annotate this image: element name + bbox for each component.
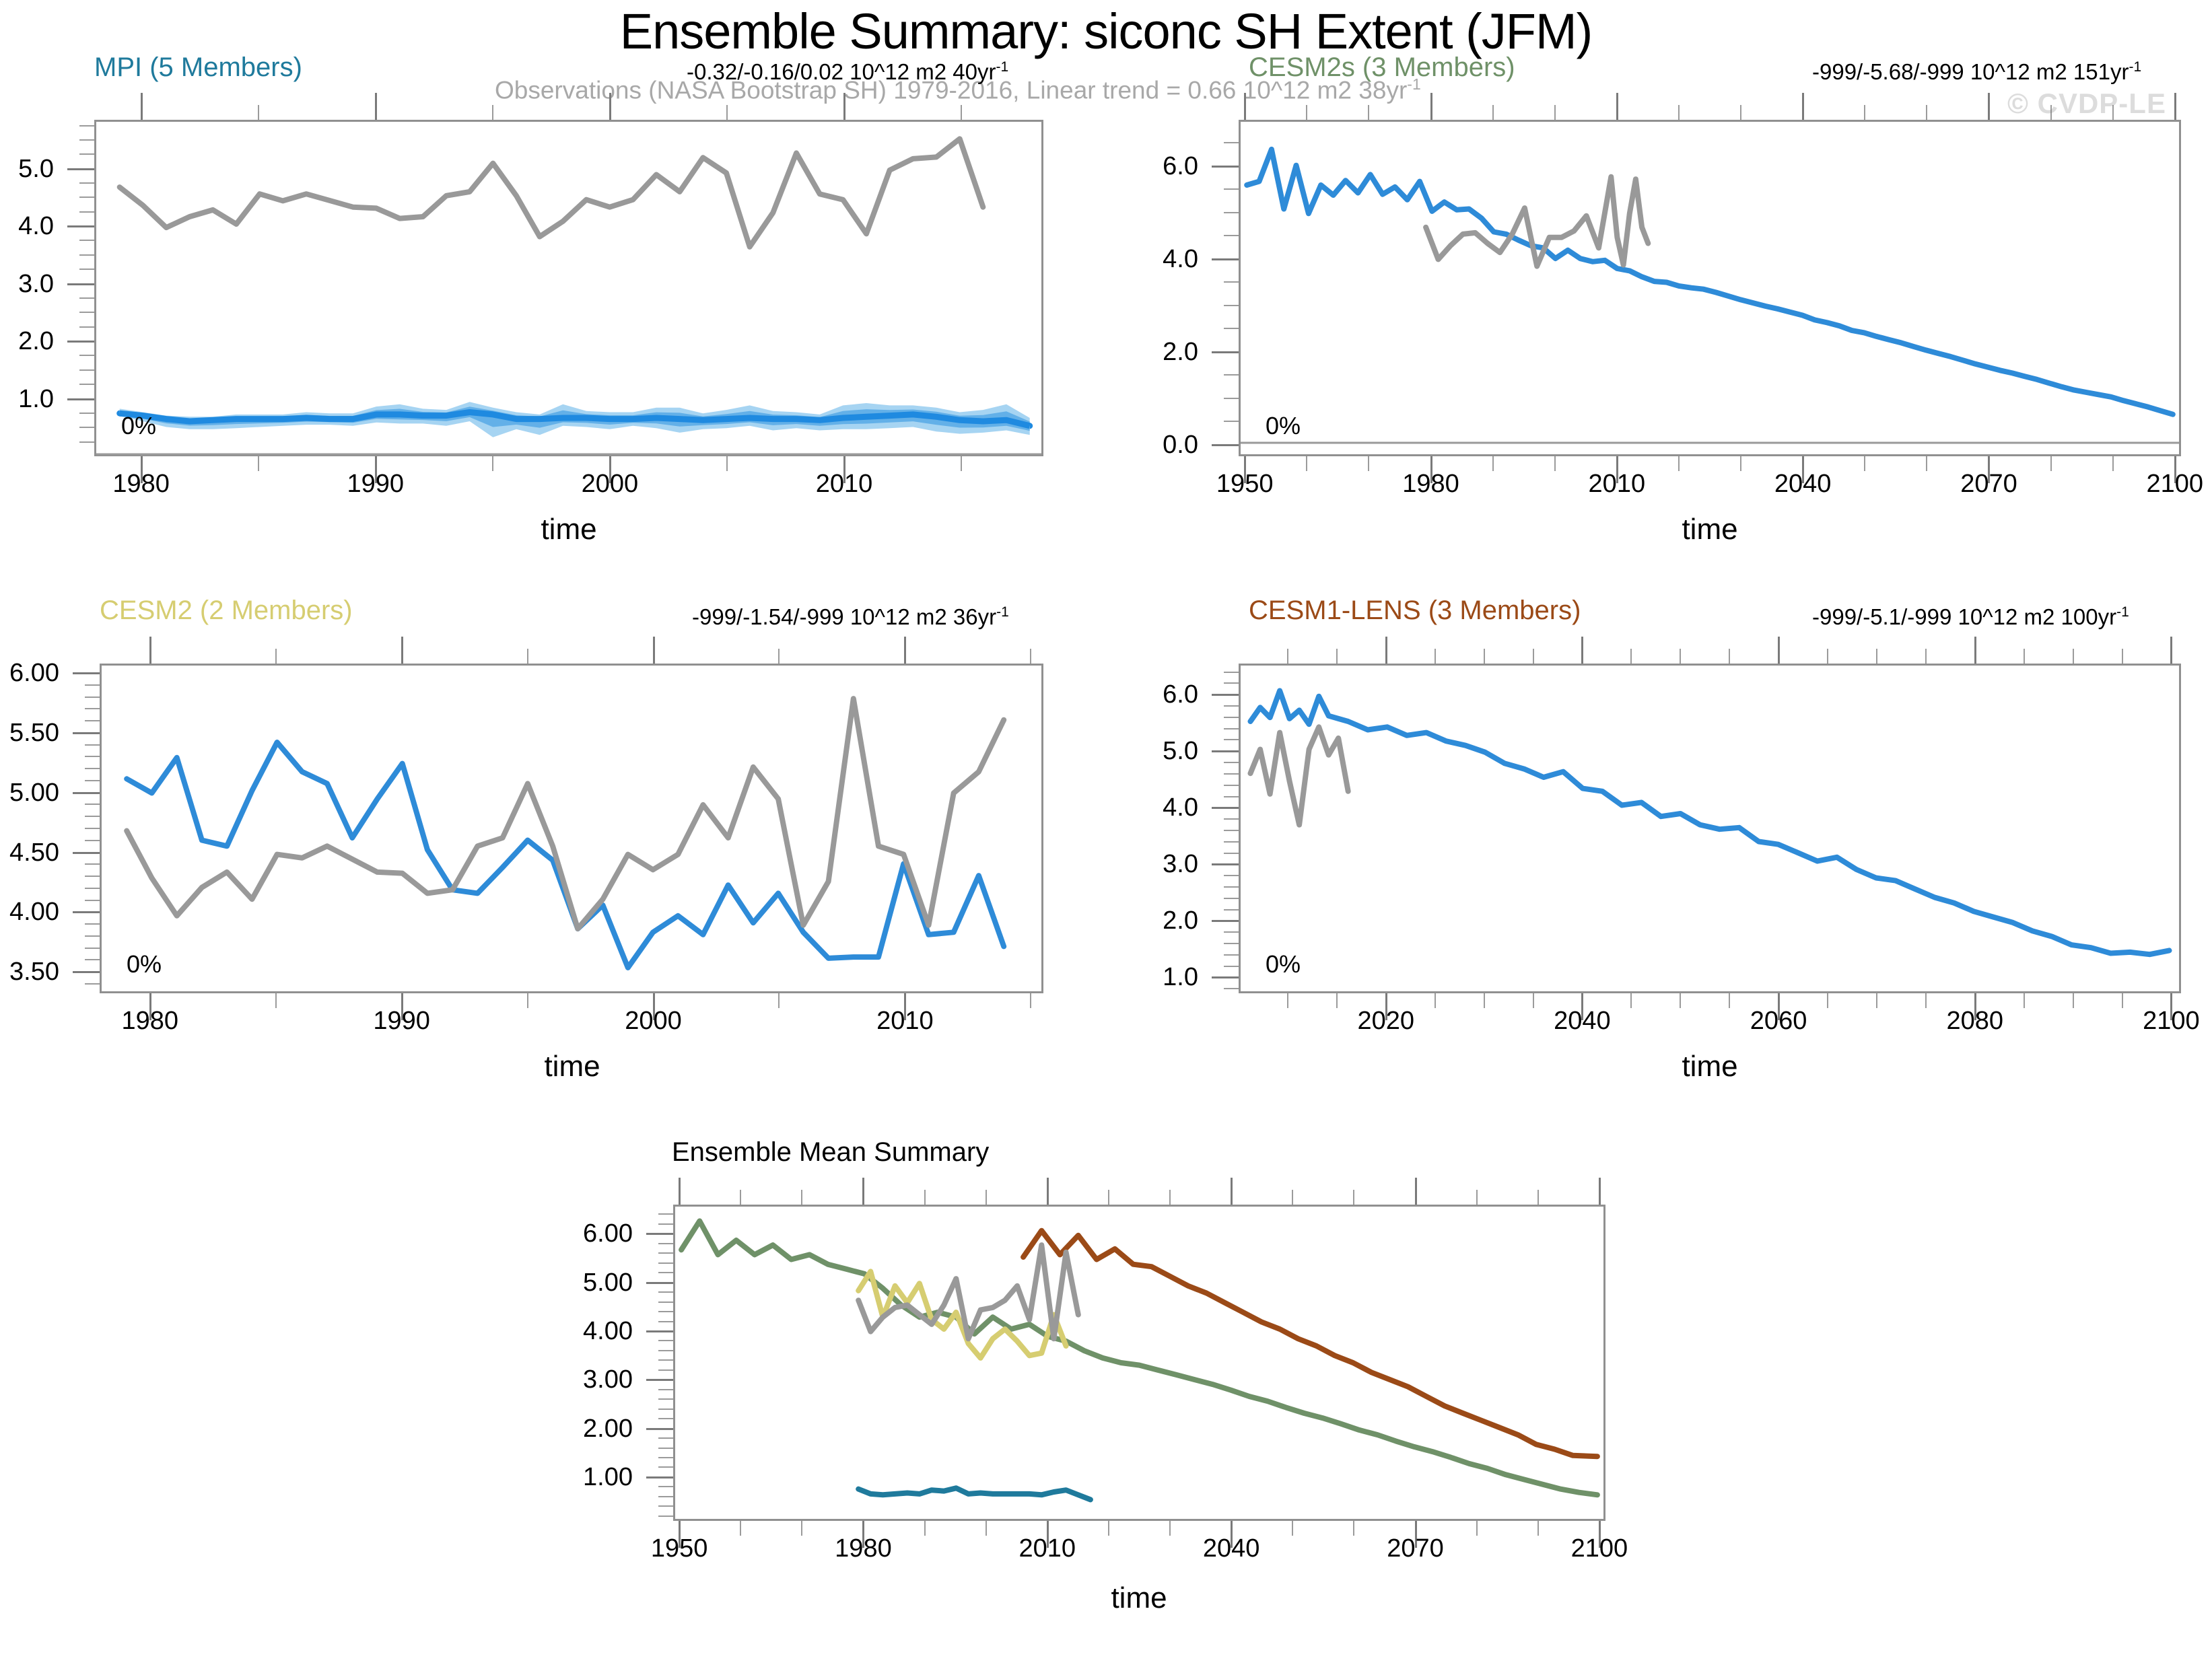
- y-tick-minor: [79, 254, 94, 256]
- x-tick-minor-top: [1630, 649, 1632, 664]
- x-tick-minor-top: [1680, 649, 1681, 664]
- panel-mpi-xaxis-name: time: [414, 513, 724, 546]
- x-tick-major-top: [1974, 637, 1976, 664]
- y-tick-minor: [85, 756, 100, 757]
- y-tick-minor: [1224, 830, 1239, 831]
- x-tick-major-top: [1231, 1178, 1233, 1205]
- x-tick-minor-top: [1030, 649, 1031, 664]
- y-tick-major: [646, 1282, 673, 1284]
- y-tick-major: [73, 971, 100, 973]
- y-tick-minor: [85, 863, 100, 865]
- x-tick-major-top: [1581, 637, 1583, 664]
- y-tick-minor: [1224, 728, 1239, 729]
- panel-cesm2s-stats-exponent: -1: [2129, 59, 2141, 75]
- x-tick-major-top: [862, 1178, 864, 1205]
- y-axis-label: 2.0: [0, 328, 54, 354]
- y-tick-minor: [1224, 717, 1239, 718]
- y-tick-minor: [85, 828, 100, 829]
- x-tick-minor-top: [2050, 105, 2052, 120]
- x-axis-label: 2010: [831, 1008, 979, 1034]
- y-tick-minor: [85, 780, 100, 781]
- y-tick-minor: [658, 1340, 673, 1341]
- y-tick-minor: [1224, 988, 1239, 989]
- x-tick-minor-top: [801, 1190, 802, 1205]
- y-tick-minor: [1224, 898, 1239, 899]
- y-tick-minor: [658, 1369, 673, 1371]
- x-axis-label: 2070: [1342, 1536, 1490, 1561]
- y-tick-minor: [1224, 235, 1239, 236]
- x-axis-label: 2060: [1704, 1008, 1853, 1034]
- x-tick-minor: [1630, 993, 1632, 1008]
- panel-cesm2-xaxis-name: time: [417, 1050, 727, 1083]
- x-tick-minor-top: [527, 649, 528, 664]
- y-tick-minor: [79, 384, 94, 385]
- y-tick-minor: [1224, 966, 1239, 967]
- panel-mpi-stats-exponent: -1: [996, 59, 1008, 75]
- y-tick-minor: [658, 1398, 673, 1400]
- y-tick-major: [73, 732, 100, 734]
- y-tick-minor: [658, 1223, 673, 1225]
- y-tick-minor: [85, 768, 100, 769]
- x-axis-label: 2040: [1508, 1008, 1656, 1034]
- y-tick-minor: [658, 1505, 673, 1507]
- x-tick-minor-top: [961, 105, 962, 120]
- y-tick-minor: [85, 876, 100, 877]
- x-tick-minor: [740, 1521, 741, 1536]
- y-axis-label: 4.0: [1064, 795, 1198, 820]
- x-tick-minor-top: [492, 105, 493, 120]
- y-tick-minor: [85, 708, 100, 709]
- x-axis-label: 2040: [1729, 471, 1877, 497]
- panel-cesm2-series-canvas: [102, 666, 1041, 991]
- y-tick-minor: [1224, 773, 1239, 775]
- y-tick-minor: [1224, 328, 1239, 329]
- x-tick-major-top: [401, 637, 403, 664]
- x-tick-minor: [275, 993, 277, 1008]
- x-tick-minor: [2112, 456, 2114, 471]
- y-tick-minor: [658, 1311, 673, 1312]
- x-tick-major-top: [141, 93, 143, 120]
- panel-ensemble-mean-xaxis-name: time: [984, 1581, 1294, 1615]
- panel-cesm2-plot-area: [100, 664, 1043, 993]
- series-line: [120, 139, 983, 246]
- x-tick-minor-top: [778, 649, 780, 664]
- y-tick-minor: [1224, 954, 1239, 956]
- x-tick-minor-top: [1554, 105, 1556, 120]
- panel-mpi-plot-area: [94, 120, 1043, 456]
- x-tick-minor: [1336, 993, 1338, 1008]
- x-tick-minor: [1864, 456, 1865, 471]
- x-tick-minor-top: [1537, 1190, 1539, 1205]
- y-tick-minor: [1224, 305, 1239, 306]
- x-tick-minor-top: [1484, 649, 1485, 664]
- y-tick-minor: [658, 1418, 673, 1419]
- y-tick-major: [1212, 863, 1239, 865]
- x-tick-minor-top: [2073, 649, 2074, 664]
- x-tick-major-top: [2174, 93, 2176, 120]
- x-tick-minor-top: [2024, 649, 2025, 664]
- y-tick-minor: [658, 1359, 673, 1361]
- y-tick-minor: [85, 816, 100, 817]
- x-tick-minor-top: [258, 105, 259, 120]
- y-tick-minor: [79, 427, 94, 428]
- x-tick-minor-top: [1336, 649, 1338, 664]
- x-tick-minor: [1678, 456, 1680, 471]
- y-axis-label: 2.0: [1064, 339, 1198, 365]
- y-tick-minor: [658, 1466, 673, 1468]
- y-tick-major: [67, 398, 94, 400]
- panel-mpi-title: MPI (5 Members): [94, 52, 302, 83]
- y-tick-minor: [85, 900, 100, 901]
- y-axis-label: 2.00: [498, 1416, 633, 1441]
- y-axis-label: 3.00: [498, 1367, 633, 1392]
- panel-cesm2s-xaxis-name: time: [1555, 513, 1865, 546]
- series-line: [1426, 177, 1648, 266]
- x-tick-minor-top: [1729, 649, 1730, 664]
- y-tick-minor: [658, 1437, 673, 1439]
- x-tick-minor-top: [1740, 105, 1741, 120]
- y-tick-minor: [658, 1350, 673, 1351]
- x-tick-minor: [1925, 993, 1927, 1008]
- y-tick-major: [1212, 807, 1239, 809]
- y-tick-minor: [1224, 188, 1239, 190]
- x-tick-minor: [1876, 993, 1877, 1008]
- y-tick-major: [67, 283, 94, 285]
- series-line: [127, 742, 1004, 968]
- x-tick-minor-top: [726, 105, 728, 120]
- y-tick-minor: [1224, 909, 1239, 911]
- y-tick-minor: [85, 959, 100, 960]
- y-axis-label: 6.0: [1064, 153, 1198, 179]
- x-tick-minor: [1306, 456, 1307, 471]
- y-tick-minor: [1224, 841, 1239, 843]
- x-tick-minor: [961, 456, 962, 471]
- x-tick-minor: [1554, 456, 1556, 471]
- panel-cesm2-stats-text: -999/-1.54/-999 10^12 m2 36yr: [692, 604, 996, 629]
- panel-ensemble-mean-plot-area: [673, 1205, 1605, 1521]
- x-tick-minor-top: [924, 1190, 926, 1205]
- x-axis-label: 1980: [789, 1536, 937, 1561]
- y-tick-minor: [79, 182, 94, 184]
- x-axis-label: 2000: [580, 1008, 728, 1034]
- y-tick-minor: [658, 1291, 673, 1293]
- x-axis-label: 2100: [2097, 1008, 2212, 1034]
- y-tick-minor: [1224, 875, 1239, 876]
- panel-cesm2s-title: CESM2s (3 Members): [1249, 52, 1515, 83]
- y-tick-minor: [79, 413, 94, 414]
- x-tick-major-top: [1802, 93, 1804, 120]
- x-axis-label: 1950: [1171, 471, 1319, 497]
- y-tick-minor: [85, 804, 100, 805]
- y-axis-label: 0.0: [1064, 432, 1198, 458]
- y-tick-minor: [85, 983, 100, 985]
- x-tick-minor: [986, 1521, 987, 1536]
- x-axis-label: 2020: [1312, 1008, 1460, 1034]
- x-tick-minor: [1533, 993, 1534, 1008]
- x-tick-minor-top: [1926, 105, 1927, 120]
- y-tick-major: [73, 672, 100, 674]
- y-tick-major: [73, 792, 100, 794]
- panel-cesm2s-plot-area: [1239, 120, 2181, 456]
- x-tick-major-top: [1430, 93, 1432, 120]
- x-tick-minor: [527, 993, 528, 1008]
- x-tick-minor: [924, 1521, 926, 1536]
- y-axis-label: 4.00: [498, 1318, 633, 1344]
- x-axis-label: 2070: [1914, 471, 2063, 497]
- x-tick-minor: [1108, 1521, 1109, 1536]
- x-tick-minor-top: [1353, 1190, 1354, 1205]
- y-axis-label: 1.0: [0, 386, 54, 412]
- x-axis-label: 2010: [973, 1536, 1121, 1561]
- x-axis-label: 1980: [76, 1008, 224, 1034]
- x-tick-major-top: [1599, 1178, 1601, 1205]
- panel-cesm1lens-stats-exponent: -1: [2116, 604, 2129, 620]
- x-tick-major-top: [1616, 93, 1618, 120]
- y-tick-minor: [1224, 853, 1239, 854]
- y-axis-label: 3.0: [1064, 851, 1198, 877]
- x-tick-minor-top: [1108, 1190, 1109, 1205]
- y-axis-label: 1.00: [498, 1464, 633, 1490]
- y-tick-minor: [85, 697, 100, 698]
- y-tick-minor: [658, 1409, 673, 1410]
- x-tick-minor: [1368, 456, 1369, 471]
- x-axis-label: 2100: [1525, 1536, 1673, 1561]
- y-tick-major: [1212, 976, 1239, 978]
- y-tick-minor: [658, 1272, 673, 1273]
- x-axis-label: 1980: [1357, 471, 1505, 497]
- y-tick-major: [646, 1428, 673, 1430]
- y-tick-major: [1212, 694, 1239, 696]
- y-tick-minor: [658, 1486, 673, 1487]
- x-tick-minor: [1292, 1521, 1293, 1536]
- y-tick-minor: [1224, 672, 1239, 673]
- x-tick-major-top: [1415, 1178, 1417, 1205]
- y-tick-major: [1212, 444, 1239, 446]
- y-tick-minor: [1224, 785, 1239, 786]
- x-tick-minor: [1827, 993, 1828, 1008]
- panel-cesm1lens-series-canvas: [1241, 666, 2179, 991]
- panel-cesm1lens-stats: -999/-5.1/-999 10^12 m2 100yr-1: [1812, 604, 2129, 630]
- y-tick-minor: [79, 139, 94, 141]
- x-tick-minor-top: [1678, 105, 1680, 120]
- x-axis-label: 1990: [328, 1008, 476, 1034]
- y-tick-minor: [1224, 682, 1239, 684]
- y-axis-label: 1.0: [1064, 964, 1198, 990]
- x-tick-minor-top: [1476, 1190, 1478, 1205]
- y-tick-major: [1212, 258, 1239, 260]
- x-axis-label: 2040: [1157, 1536, 1305, 1561]
- y-tick-minor: [85, 720, 100, 721]
- y-tick-minor: [85, 744, 100, 746]
- series-line: [858, 1488, 1091, 1499]
- y-tick-minor: [1224, 705, 1239, 707]
- x-tick-minor-top: [1864, 105, 1865, 120]
- y-tick-minor: [85, 923, 100, 925]
- panel-cesm2s-stats: -999/-5.68/-999 10^12 m2 151yr-1: [1812, 59, 2141, 85]
- y-tick-minor: [1224, 886, 1239, 888]
- y-tick-major: [73, 911, 100, 913]
- y-axis-label: 5.0: [1064, 738, 1198, 764]
- y-tick-major: [1212, 351, 1239, 353]
- y-tick-minor: [658, 1516, 673, 1517]
- x-tick-minor: [1030, 993, 1031, 1008]
- y-axis-label: 4.00: [0, 899, 59, 925]
- y-tick-minor: [1224, 142, 1239, 143]
- x-tick-major-top: [1385, 637, 1387, 664]
- y-tick-minor: [79, 297, 94, 299]
- x-tick-major-top: [653, 637, 655, 664]
- x-tick-minor-top: [1827, 649, 1828, 664]
- x-tick-major-top: [904, 637, 906, 664]
- y-tick-minor: [1224, 398, 1239, 399]
- x-tick-minor-top: [1492, 105, 1494, 120]
- y-tick-minor: [1224, 212, 1239, 213]
- x-tick-minor-top: [1287, 649, 1288, 664]
- y-tick-minor: [658, 1389, 673, 1390]
- x-tick-major-top: [1988, 93, 1990, 120]
- x-tick-minor: [778, 993, 780, 1008]
- x-tick-minor: [1484, 993, 1485, 1008]
- x-tick-minor: [1287, 993, 1288, 1008]
- y-tick-major: [646, 1233, 673, 1235]
- y-axis-label: 3.50: [0, 959, 59, 985]
- panel-ensemble-mean-series-canvas: [675, 1207, 1603, 1519]
- y-tick-major: [67, 341, 94, 343]
- x-tick-minor-top: [986, 1190, 987, 1205]
- x-tick-minor: [1435, 993, 1436, 1008]
- y-tick-minor: [1224, 818, 1239, 820]
- x-tick-minor-top: [1533, 649, 1534, 664]
- series-line: [1251, 727, 1348, 824]
- x-tick-major-top: [1778, 637, 1780, 664]
- series-line: [681, 1221, 1597, 1495]
- panel-cesm1lens-title: CESM1-LENS (3 Members): [1249, 596, 1581, 626]
- y-tick-minor: [79, 197, 94, 198]
- x-tick-minor: [1169, 1521, 1171, 1536]
- x-axis-label: 2000: [536, 471, 684, 497]
- series-line: [127, 699, 1004, 929]
- x-tick-minor: [1729, 993, 1730, 1008]
- y-tick-minor: [658, 1496, 673, 1497]
- x-tick-minor: [492, 456, 493, 471]
- x-axis-label: 1980: [67, 471, 215, 497]
- panel-cesm2s-percent: 0%: [1266, 412, 1301, 440]
- y-tick-major: [646, 1330, 673, 1332]
- y-tick-minor: [79, 211, 94, 213]
- x-tick-minor: [726, 456, 728, 471]
- x-tick-major-top: [149, 637, 151, 664]
- series-line: [1247, 149, 2173, 415]
- panel-cesm2-stats-exponent: -1: [996, 604, 1009, 620]
- panel-ensemble-mean-title: Ensemble Mean Summary: [672, 1137, 989, 1168]
- y-tick-major: [67, 225, 94, 227]
- x-tick-major-top: [609, 93, 611, 120]
- panel-cesm2-percent: 0%: [127, 950, 162, 978]
- panel-cesm2s-stats-text: -999/-5.68/-999 10^12 m2 151yr: [1812, 59, 2129, 84]
- x-tick-minor-top: [1435, 649, 1436, 664]
- panel-mpi-stats: -0.32/-0.16/0.02 10^12 m2 40yr-1: [687, 59, 1008, 85]
- y-tick-major: [1212, 920, 1239, 922]
- y-tick-minor: [1224, 762, 1239, 763]
- x-tick-minor: [1353, 1521, 1354, 1536]
- x-axis-label: 2010: [1543, 471, 1691, 497]
- x-tick-minor: [1680, 993, 1681, 1008]
- y-tick-minor: [79, 369, 94, 371]
- x-tick-minor: [258, 456, 259, 471]
- y-tick-major: [67, 168, 94, 170]
- x-axis-label: 2010: [770, 471, 918, 497]
- x-axis-label: 1950: [605, 1536, 753, 1561]
- y-tick-minor: [1224, 796, 1239, 797]
- x-tick-major-top: [375, 93, 377, 120]
- y-tick-minor: [85, 935, 100, 937]
- y-tick-minor: [658, 1243, 673, 1244]
- panel-mpi-percent: 0%: [121, 412, 156, 440]
- panel-cesm2-title: CESM2 (2 Members): [100, 596, 353, 626]
- y-tick-major: [646, 1476, 673, 1478]
- x-tick-minor: [801, 1521, 802, 1536]
- panel-mpi-stats-text: -0.32/-0.16/0.02 10^12 m2 40yr: [687, 59, 996, 84]
- x-tick-minor-top: [1169, 1190, 1171, 1205]
- x-tick-minor: [1926, 456, 1927, 471]
- panel-cesm1lens-xaxis-name: time: [1555, 1050, 1865, 1083]
- y-axis-label: 4.0: [0, 213, 54, 239]
- y-tick-minor: [79, 355, 94, 356]
- x-tick-major-top: [1047, 1178, 1049, 1205]
- y-tick-minor: [658, 1262, 673, 1264]
- y-tick-major: [73, 852, 100, 854]
- y-tick-minor: [79, 240, 94, 241]
- x-axis-label: 1990: [302, 471, 450, 497]
- y-axis-label: 4.0: [1064, 246, 1198, 272]
- x-tick-minor-top: [2112, 105, 2114, 120]
- y-tick-minor: [85, 948, 100, 949]
- x-tick-major-top: [843, 93, 845, 120]
- x-tick-minor: [2024, 993, 2025, 1008]
- y-tick-minor: [85, 888, 100, 889]
- x-tick-minor-top: [1876, 649, 1877, 664]
- cvdp-watermark: © CVDP-LE: [2007, 87, 2166, 120]
- x-tick-major-top: [1244, 93, 1246, 120]
- panel-cesm2s-series-canvas: [1241, 122, 2179, 454]
- y-tick-minor: [1224, 931, 1239, 933]
- y-tick-major: [1212, 750, 1239, 752]
- x-tick-minor: [1492, 456, 1494, 471]
- panel-cesm1lens-stats-text: -999/-5.1/-999 10^12 m2 100yr: [1812, 604, 2116, 629]
- y-tick-minor: [79, 269, 94, 270]
- y-tick-major: [1212, 166, 1239, 168]
- x-tick-minor-top: [740, 1190, 741, 1205]
- panel-cesm2-stats: -999/-1.54/-999 10^12 m2 36yr-1: [692, 604, 1009, 630]
- x-axis-label: 2080: [1901, 1008, 2049, 1034]
- panel-mpi-series-canvas: [96, 122, 1041, 454]
- y-axis-label: 5.0: [0, 156, 54, 182]
- y-axis-label: 5.00: [498, 1270, 633, 1295]
- y-axis-label: 3.0: [0, 271, 54, 297]
- y-tick-minor: [79, 153, 94, 155]
- x-tick-minor-top: [1368, 105, 1369, 120]
- y-tick-major: [646, 1379, 673, 1381]
- x-tick-minor: [2122, 993, 2123, 1008]
- y-tick-minor: [1224, 421, 1239, 422]
- x-tick-minor: [2050, 456, 2052, 471]
- x-tick-minor: [1476, 1521, 1478, 1536]
- y-axis-label: 4.50: [0, 840, 59, 865]
- y-tick-minor: [79, 312, 94, 313]
- y-tick-minor: [658, 1252, 673, 1254]
- x-tick-minor-top: [2122, 649, 2123, 664]
- panel-cesm1lens-percent: 0%: [1266, 950, 1301, 978]
